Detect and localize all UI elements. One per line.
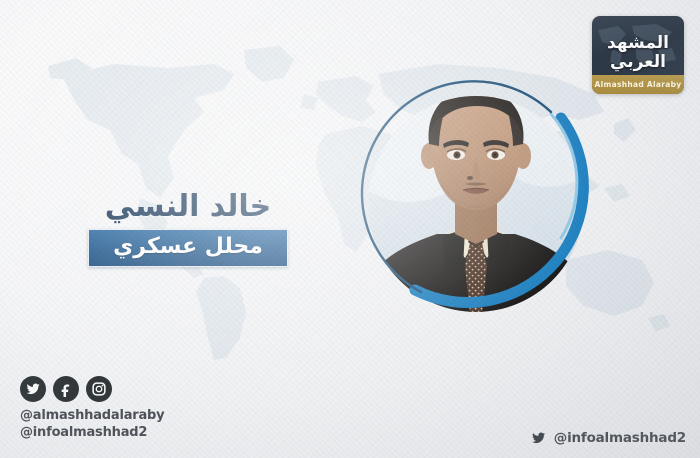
channel-logo: المشهد العربي Almashhad Alaraby (592, 16, 684, 94)
footer-twitter-block[interactable]: @infoalmashhad2 (529, 430, 686, 446)
guest-name: خالد النسي (88, 190, 288, 224)
handle-primary[interactable]: @almashhadalaraby (20, 407, 164, 424)
logo-arabic-text: المشهد العربي (592, 34, 684, 72)
graphic-canvas: خالد النسي محلل عسكري المشهد العربي Alma… (0, 0, 700, 458)
twitter-bird-icon (529, 430, 548, 446)
guest-portrait (355, 78, 597, 324)
logo-latin-name: Almashhad Alaraby (592, 75, 684, 94)
logo-arabic-line-2: العربي (592, 53, 684, 72)
social-block: @almashhadalaraby @infoalmashhad2 (20, 376, 164, 441)
footer-twitter-handle: @infoalmashhad2 (554, 430, 686, 446)
portrait-ring-decoration (355, 78, 597, 324)
guest-name-block: خالد النسي محلل عسكري (88, 190, 288, 267)
instagram-icon[interactable] (86, 376, 112, 402)
facebook-icon[interactable] (53, 376, 79, 402)
twitter-icon[interactable] (20, 376, 46, 402)
guest-role: محلل عسكري (99, 235, 277, 259)
guest-role-banner: محلل عسكري (88, 229, 288, 267)
logo-arabic-line-1: المشهد (592, 34, 684, 53)
social-handles: @almashhadalaraby @infoalmashhad2 (20, 407, 164, 441)
handle-secondary[interactable]: @infoalmashhad2 (20, 424, 164, 441)
social-icon-row (20, 376, 164, 402)
